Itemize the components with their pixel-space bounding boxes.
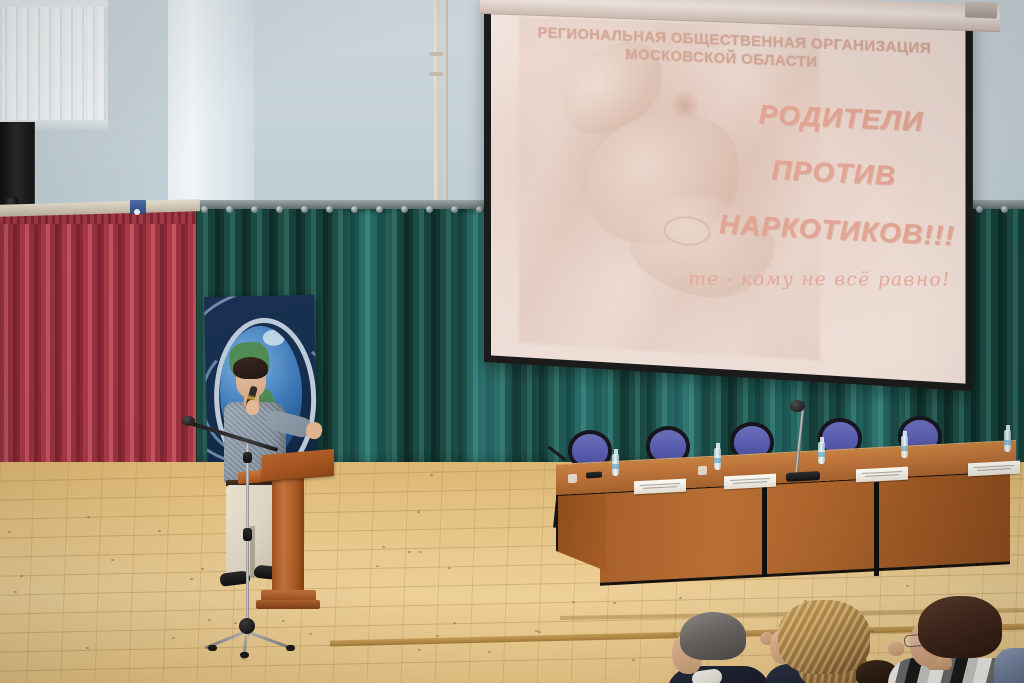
blinds-rail <box>0 0 108 7</box>
presenter-hair <box>233 357 268 379</box>
window-blinds <box>0 0 108 128</box>
floor-speck <box>436 635 439 637</box>
pipe-clip <box>429 52 443 56</box>
floor-speck <box>158 530 161 532</box>
name-card <box>968 461 1020 477</box>
water-bottle <box>818 442 825 464</box>
floor-speck <box>453 622 456 624</box>
projection-screen: РЕГИОНАЛЬНАЯ ОБЩЕСТВЕННАЯ ОРГАНИЗАЦИЯ МО… <box>484 0 973 391</box>
drinking-glass <box>698 466 707 475</box>
floor-speck <box>679 597 682 599</box>
floor-speck <box>190 578 193 580</box>
curtain-grommet <box>376 206 383 213</box>
curtain-grommet <box>351 206 358 213</box>
audience-member <box>994 648 1024 683</box>
curtain-grommet <box>226 206 233 213</box>
curtain-grommet <box>251 206 258 213</box>
audience-member <box>666 612 762 683</box>
name-card <box>634 479 686 495</box>
floor-speck <box>111 559 114 561</box>
microphone-stand-clamp <box>243 452 252 463</box>
audience-hair <box>918 596 1002 658</box>
floor-speck <box>208 619 211 621</box>
curtain-grommet <box>201 206 208 213</box>
floor-speck <box>382 546 385 548</box>
slide-header: РЕГИОНАЛЬНАЯ ОБЩЕСТВЕННАЯ ОРГАНИЗАЦИЯ МО… <box>491 23 947 78</box>
audience-hair <box>778 600 870 674</box>
tripod-foot <box>286 645 295 651</box>
slide-title-line-1: РОДИТЕЛИ <box>759 99 924 138</box>
water-bottle <box>612 454 619 476</box>
floor-speck <box>632 659 635 661</box>
floor-speck <box>14 591 17 593</box>
table-seam <box>762 482 767 576</box>
slide-title-line-3: НАРКОТИКОВ!!! <box>719 209 955 253</box>
name-card <box>856 467 908 483</box>
tripod-foot <box>240 652 249 658</box>
floor-speck <box>376 565 379 567</box>
wall-pillar <box>168 0 224 215</box>
conference-hall-photo: РЕГИОНАЛЬНАЯ ОБЩЕСТВЕННАЯ ОРГАНИЗАЦИЯ МО… <box>0 0 1024 683</box>
floor-speck <box>430 474 433 476</box>
tripod-hub <box>239 618 255 634</box>
floor-speck <box>172 637 175 639</box>
curtain-grommet <box>1001 206 1008 213</box>
wall-pipe <box>434 0 439 212</box>
curtain-grommet <box>276 206 283 213</box>
tripod-foot <box>208 645 217 651</box>
floor-speck <box>309 633 312 635</box>
slide-slogan: те - кому не всё равно! <box>687 269 951 291</box>
presidium-table <box>556 452 1016 587</box>
presenter-hand-right <box>246 400 259 415</box>
floor-speck <box>488 651 491 653</box>
curtain-grommet <box>426 206 433 213</box>
globe-landmass <box>263 329 285 345</box>
floor-speck <box>8 531 11 533</box>
podium-base-plinth <box>256 600 320 609</box>
floor-speck <box>87 516 90 518</box>
curtain-grommet <box>976 206 983 213</box>
table-seam <box>874 482 879 576</box>
floor-speck <box>417 511 420 513</box>
floor-speck <box>20 575 23 577</box>
audience-hair <box>680 612 746 660</box>
floor-speck <box>538 631 541 633</box>
table-microphone-base <box>786 471 820 482</box>
floor-speck <box>86 647 89 649</box>
curtain-grommet <box>451 206 458 213</box>
presenter-hand-left <box>304 421 323 441</box>
curtain-grommet <box>301 206 308 213</box>
floor-speck <box>234 622 237 624</box>
microphone-stand-clamp <box>243 528 252 541</box>
drinking-glass <box>568 474 577 483</box>
microphone-icon <box>182 416 195 426</box>
curtain-grommet <box>476 206 483 213</box>
water-bottle <box>714 448 721 470</box>
projection-screen-frame: РЕГИОНАЛЬНАЯ ОБЩЕСТВЕННАЯ ОРГАНИЗАЦИЯ МО… <box>484 0 973 391</box>
floor-speck <box>282 620 285 622</box>
floor-speck <box>418 649 421 651</box>
floor-speck <box>419 551 422 553</box>
projection-screen-bracket <box>965 1 997 18</box>
floor-speck <box>572 601 575 603</box>
name-card <box>724 474 776 490</box>
water-bottle <box>901 436 908 458</box>
wall-pillar-secondary <box>224 0 254 215</box>
pipe-clip <box>429 72 443 76</box>
curtain-grommet <box>326 206 333 213</box>
microphone-icon <box>790 400 805 412</box>
curtain-grommet <box>401 206 408 213</box>
floor-speck <box>448 567 451 569</box>
desk-remote <box>586 472 602 479</box>
floor-speck <box>201 568 204 570</box>
slide-text-block: РЕГИОНАЛЬНАЯ ОБЩЕСТВЕННАЯ ОРГАНИЗАЦИЯ МО… <box>491 1 965 383</box>
projected-slide: РЕГИОНАЛЬНАЯ ОБЩЕСТВЕННАЯ ОРГАНИЗАЦИЯ МО… <box>491 1 965 383</box>
water-bottle <box>1004 430 1011 452</box>
slide-title-line-2: ПРОТИВ <box>772 155 897 193</box>
floor-speck <box>408 551 411 553</box>
podium-column <box>272 478 304 594</box>
presenter-ear <box>259 378 266 387</box>
stage-edge-device <box>130 200 146 214</box>
wall-pipe-secondary <box>444 0 448 212</box>
floor-speck <box>613 602 616 604</box>
